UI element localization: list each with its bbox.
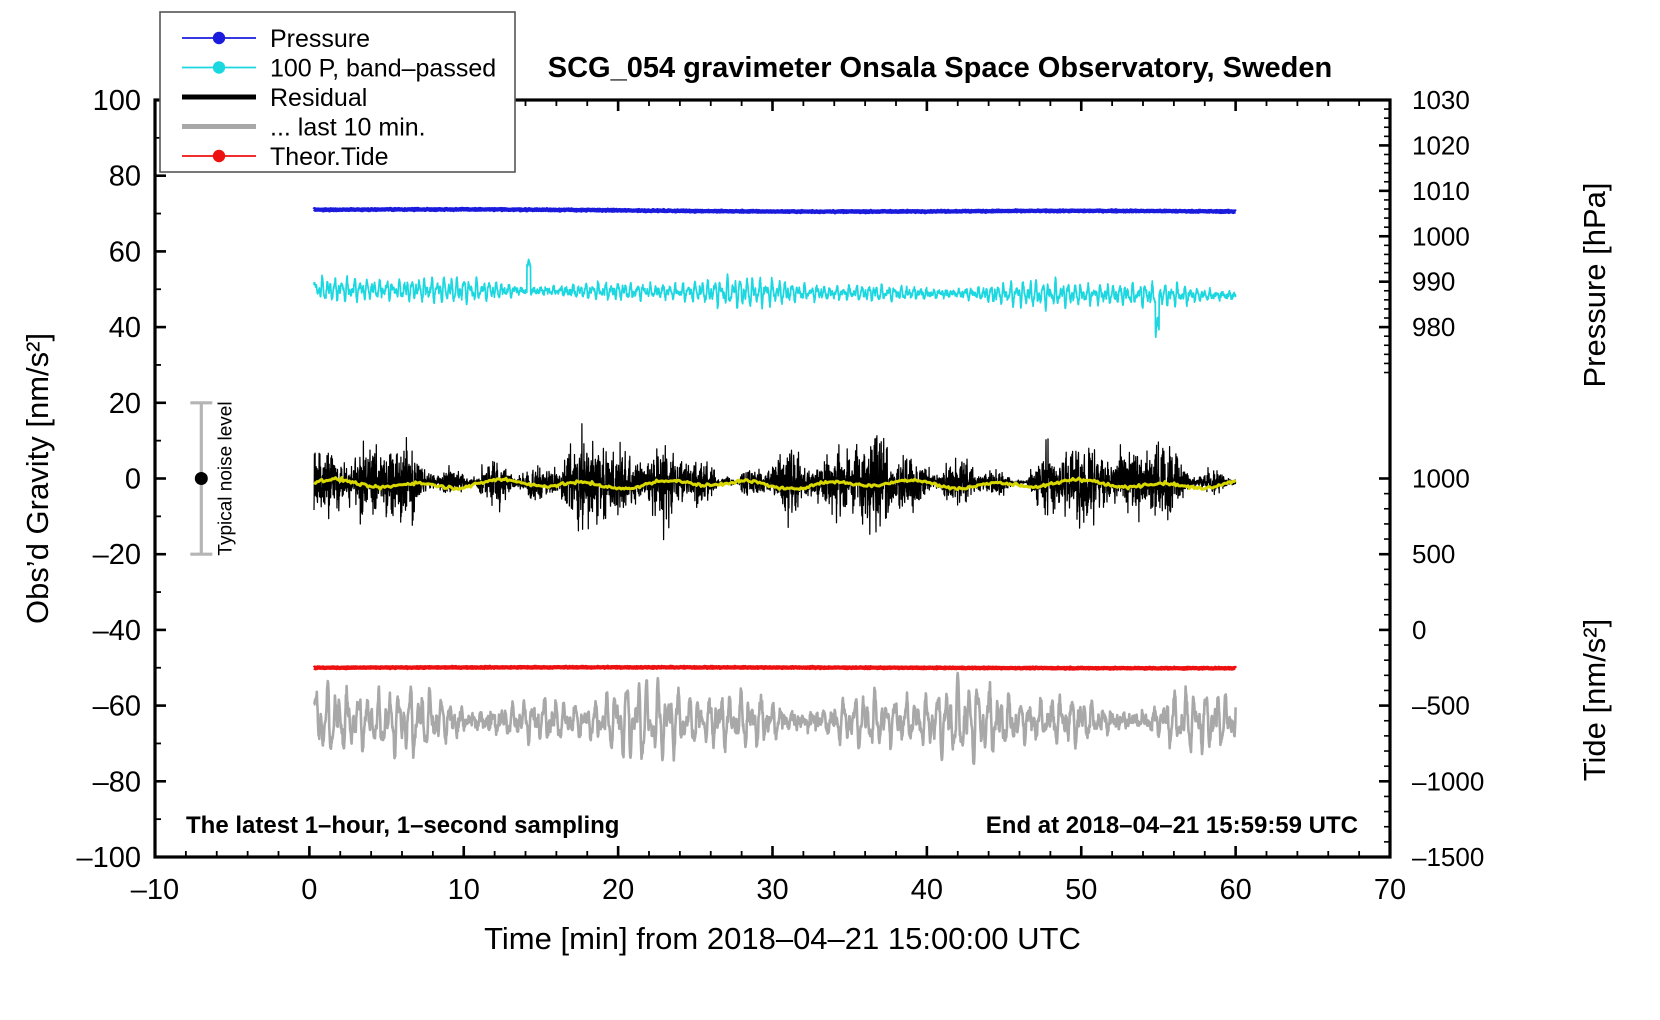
y-axis-title: Obs’d Gravity [nm/s²] (20, 333, 55, 624)
pressure-tick-label: 1010 (1412, 176, 1470, 206)
y-tick-label: –100 (76, 842, 141, 874)
x-tick-label: 20 (602, 874, 634, 906)
bottom-right-note: End at 2018–04–21 15:59:59 UTC (986, 812, 1358, 839)
y-tick-label: –60 (93, 691, 141, 723)
tide-tick-label: –1000 (1412, 766, 1484, 796)
x-axis-title: Time [min] from 2018–04–21 15:00:00 UTC (484, 921, 1081, 956)
legend-marker-1 (213, 61, 225, 73)
legend-marker-0 (213, 32, 225, 44)
x-tick-label: 40 (911, 874, 943, 906)
series-bandpassed (314, 259, 1236, 337)
x-tick-label: –10 (131, 874, 179, 906)
legend-label-2: Residual (270, 84, 367, 112)
legend-label-1: 100 P, band–passed (270, 55, 496, 83)
chart-canvas: –10010203040506070–100–80–60–40–20020406… (0, 0, 1660, 1020)
tide-axis-title: Tide [nm/s²] (1577, 619, 1612, 782)
y-tick-label: 60 (109, 236, 141, 268)
noise-center-dot (195, 472, 208, 485)
tide-tick-label: 500 (1412, 539, 1455, 569)
legend-label-4: Theor.Tide (270, 143, 389, 171)
tide-tick-label: –1500 (1412, 842, 1484, 872)
y-tick-label: 100 (93, 85, 141, 117)
bottom-left-note: The latest 1–hour, 1–second sampling (186, 812, 619, 839)
tide-tick-label: –500 (1412, 691, 1470, 721)
series-pressure (314, 209, 1236, 212)
x-tick-label: 50 (1065, 874, 1097, 906)
x-tick-label: 0 (301, 874, 317, 906)
noise-level-label: Typical noise level (215, 401, 236, 555)
x-tick-label: 60 (1219, 874, 1251, 906)
pressure-tick-label: 1000 (1412, 221, 1470, 251)
pressure-tick-label: 1030 (1412, 85, 1470, 115)
tide-tick-label: 0 (1412, 615, 1426, 645)
legend-label-0: Pressure (270, 25, 370, 53)
series-theor-tide (314, 667, 1236, 669)
pressure-tick-label: 990 (1412, 267, 1455, 297)
pressure-tick-label: 980 (1412, 312, 1455, 342)
y-tick-label: 80 (109, 161, 141, 193)
y-tick-label: 20 (109, 388, 141, 420)
y-tick-label: 0 (125, 464, 141, 496)
chart-title: SCG_054 gravimeter Onsala Space Observat… (548, 52, 1332, 84)
x-tick-label: 70 (1374, 874, 1406, 906)
y-tick-label: 40 (109, 312, 141, 344)
pressure-axis-title: Pressure [hPa] (1577, 182, 1612, 387)
pressure-tick-label: 1020 (1412, 130, 1470, 160)
x-tick-label: 10 (448, 874, 480, 906)
y-tick-label: –80 (93, 766, 141, 798)
legend-label-3: ... last 10 min. (270, 114, 426, 142)
x-tick-label: 30 (756, 874, 788, 906)
y-tick-label: –40 (93, 615, 141, 647)
legend-marker-4 (213, 150, 225, 162)
series-last-10-min (314, 673, 1236, 764)
tide-tick-label: 1000 (1412, 464, 1470, 494)
gravimeter-chart: –10010203040506070–100–80–60–40–20020406… (0, 0, 1660, 1020)
y-tick-label: –20 (93, 539, 141, 571)
